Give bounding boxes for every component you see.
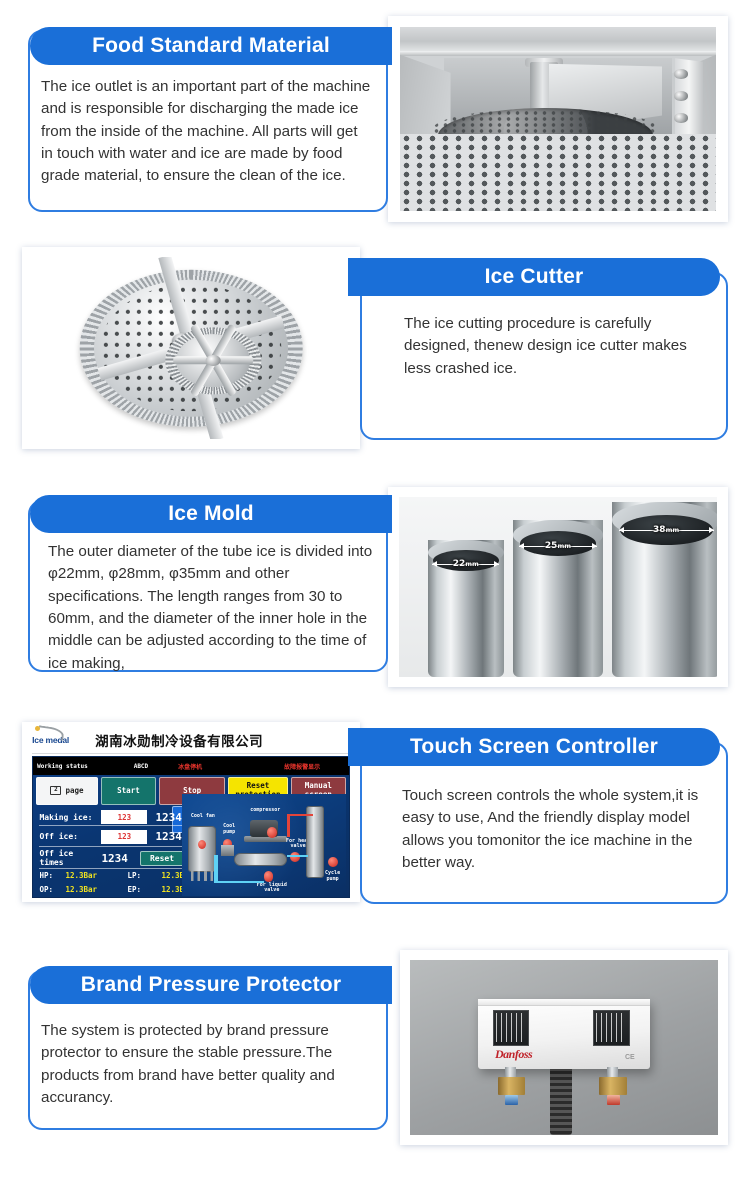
working-status-label: Working status bbox=[37, 763, 88, 770]
op-label: OP: bbox=[39, 885, 65, 894]
tube-dimension-25mm: 25mm bbox=[519, 539, 597, 552]
feature-title-label: Ice Cutter bbox=[485, 265, 584, 289]
tube-mold-38mm: 38mm bbox=[612, 502, 717, 677]
pressure-scale-right bbox=[593, 1010, 629, 1046]
arrow-right-icon bbox=[592, 543, 597, 549]
ep-label: EP: bbox=[127, 885, 161, 894]
cool-fan-vessel bbox=[188, 826, 216, 872]
hmi-screen: Working status ABCD 冰盘停机 故障报警显示 2 page S… bbox=[32, 756, 350, 898]
alarm-text-1: 冰盘停机 bbox=[178, 762, 202, 771]
bolt-icon bbox=[674, 69, 687, 79]
feature-body-food-standard-material: The ice outlet is an important part of t… bbox=[41, 76, 371, 188]
feature-body-touch-screen-controller: Touch screen controls the whole system,i… bbox=[402, 785, 720, 874]
hmi-company-name: 湖南冰勋制冷设备有限公司 bbox=[95, 730, 263, 750]
hp-value: 12.3Bar bbox=[65, 871, 127, 880]
feature-title-label: Brand Pressure Protector bbox=[81, 973, 341, 997]
arrow-right-icon bbox=[709, 527, 714, 533]
cavity-ceiling-edge bbox=[400, 51, 716, 57]
hmi-pressure-row-hp-lp: HP: 12.3Bar LP: 12.3Bar bbox=[39, 871, 193, 880]
arrow-left-icon bbox=[519, 543, 524, 549]
gear-hub bbox=[206, 355, 221, 366]
cycle-pump-indicator bbox=[328, 857, 338, 867]
brass-fitting-left bbox=[498, 1077, 526, 1095]
feature-image-card-ice-mold: 22mm 25mm bbox=[388, 487, 728, 687]
hmi-page-button[interactable]: 2 page bbox=[36, 777, 98, 805]
feature-image-card-touch-screen-controller: Ice medal 湖南冰勋制冷设备有限公司 Working status AB… bbox=[22, 722, 360, 902]
hmi-row-off-ice-times: Off ice times 1234 Reset bbox=[39, 850, 184, 867]
for-liquid-valve-label: For liquid valve bbox=[252, 883, 291, 894]
hmi-status-bar: Working status ABCD 冰盘停机 故障报警显示 bbox=[33, 757, 349, 775]
danfoss-pressure-switch-photo: Danfoss CE bbox=[410, 960, 718, 1135]
hmi-making-ice-setpoint[interactable]: 123 bbox=[101, 810, 147, 824]
compressor-label: compressor bbox=[244, 808, 287, 814]
bolt-icon bbox=[674, 113, 687, 123]
cool-fan-indicator bbox=[198, 840, 206, 849]
pipe-segment bbox=[214, 881, 263, 883]
hmi-off-ice-times-value: 1234 bbox=[101, 852, 128, 865]
danfoss-logo: Danfoss bbox=[495, 1047, 532, 1062]
feature-body-ice-cutter: The ice cutting procedure is carefully d… bbox=[404, 313, 716, 380]
pipe-segment bbox=[287, 855, 308, 857]
hmi-making-ice-label: Making ice: bbox=[39, 813, 101, 822]
for-heat-valve-indicator bbox=[290, 852, 300, 862]
feature-title-brand-pressure-protector: Brand Pressure Protector bbox=[30, 966, 392, 1004]
tube-dimension-22mm: 22mm bbox=[432, 558, 499, 571]
pipe-segment-hot bbox=[287, 814, 313, 816]
brass-fitting-right bbox=[599, 1077, 627, 1095]
hmi-row-off-ice: Off ice: 123 1234S bbox=[39, 830, 188, 844]
arrow-right-icon bbox=[494, 561, 499, 567]
hmi-off-ice-times-label: Off ice times bbox=[39, 850, 101, 867]
hmi-row-making-ice: Making ice: 123 1234S bbox=[39, 810, 188, 824]
tube-mold-25mm: 25mm bbox=[513, 520, 602, 677]
feature-image-card-brand-pressure-protector: Danfoss CE bbox=[400, 950, 728, 1145]
tube-mold-22mm: 22mm bbox=[428, 540, 504, 677]
red-cap-icon bbox=[607, 1095, 620, 1106]
hmi-start-button[interactable]: Start bbox=[101, 777, 156, 805]
monitor-icon: 2 bbox=[50, 786, 61, 795]
hmi-touch-screen-photo: Ice medal 湖南冰勋制冷设备有限公司 Working status AB… bbox=[22, 722, 360, 902]
compressor-indicator bbox=[267, 827, 277, 837]
feature-title-label: Touch Screen Controller bbox=[410, 735, 658, 759]
hp-label: HP: bbox=[39, 871, 65, 880]
steel-tube-molds-photo: 22mm 25mm bbox=[399, 497, 717, 677]
heat-exchanger bbox=[234, 853, 287, 866]
ice-cutter-disc-photo bbox=[32, 257, 350, 439]
cool-pump-body bbox=[221, 845, 234, 856]
hmi-page-label: page bbox=[65, 787, 83, 796]
arrow-left-icon bbox=[619, 527, 624, 533]
feature-body-ice-mold: The outer diameter of the tube ice is di… bbox=[48, 541, 374, 675]
hmi-reset-button[interactable]: Reset bbox=[140, 851, 184, 866]
hmi-off-ice-setpoint[interactable]: 123 bbox=[101, 830, 147, 844]
cool-fan-label: Cool fan bbox=[185, 814, 221, 820]
tube-dimension-38mm: 38mm bbox=[619, 523, 714, 536]
lp-label: LP: bbox=[127, 871, 161, 880]
ce-mark: CE bbox=[625, 1054, 635, 1061]
tube-dimension-label: 25mm bbox=[542, 541, 574, 551]
feature-title-ice-cutter: Ice Cutter bbox=[348, 258, 720, 296]
feature-title-label: Ice Mold bbox=[168, 502, 254, 526]
op-value: 12.3Bar bbox=[65, 885, 127, 894]
feature-title-ice-mold: Ice Mold bbox=[30, 495, 392, 533]
hmi-system-diagram: Cool fan Cool pump compressor For heat v… bbox=[182, 794, 346, 896]
tube-dimension-label: 22mm bbox=[450, 559, 482, 569]
feature-body-brand-pressure-protector: The system is protected by brand pressur… bbox=[41, 1020, 361, 1109]
hmi-brand-row: Ice medal 湖南冰勋制冷设备有限公司 bbox=[32, 727, 350, 754]
arrow-left-icon bbox=[432, 561, 437, 567]
pipe-segment bbox=[214, 855, 217, 882]
feature-title-touch-screen-controller: Touch Screen Controller bbox=[348, 728, 720, 766]
cycle-pump-label: Cycle pump bbox=[319, 871, 345, 882]
housing-lid bbox=[478, 999, 650, 1007]
bolt-icon bbox=[674, 91, 687, 101]
ice-medal-logo: Ice medal bbox=[32, 730, 90, 750]
cavity-ceiling bbox=[400, 27, 716, 53]
feature-title-food-standard-material: Food Standard Material bbox=[30, 27, 392, 65]
alarm-text-2: 故障报警显示 bbox=[284, 762, 320, 771]
ice-tank-column bbox=[306, 806, 324, 878]
flexible-conduit bbox=[550, 1065, 572, 1135]
cool-fan-legs bbox=[191, 871, 212, 880]
tube-dimension-label: 38mm bbox=[650, 525, 682, 535]
perforated-floor-plate bbox=[400, 134, 716, 211]
cool-pump-label: Cool pump bbox=[216, 824, 242, 835]
pressure-scale-left bbox=[493, 1010, 529, 1046]
pressure-switch-housing: Danfoss CE bbox=[478, 999, 650, 1069]
status-code: ABCD bbox=[134, 763, 148, 770]
pipe-segment-hot bbox=[287, 814, 290, 837]
feature-image-card-ice-cutter bbox=[22, 247, 360, 449]
feature-title-label: Food Standard Material bbox=[92, 34, 330, 58]
hmi-pressure-row-op-ep: OP: 12.3Bar EP: 12.3Bar bbox=[39, 885, 193, 894]
ice-outlet-interior-photo bbox=[400, 27, 716, 211]
for-liquid-valve-indicator bbox=[264, 871, 274, 881]
blue-cap-icon bbox=[505, 1095, 518, 1106]
feature-image-card-food-standard-material bbox=[388, 16, 728, 222]
hmi-off-ice-label: Off ice: bbox=[39, 832, 101, 841]
